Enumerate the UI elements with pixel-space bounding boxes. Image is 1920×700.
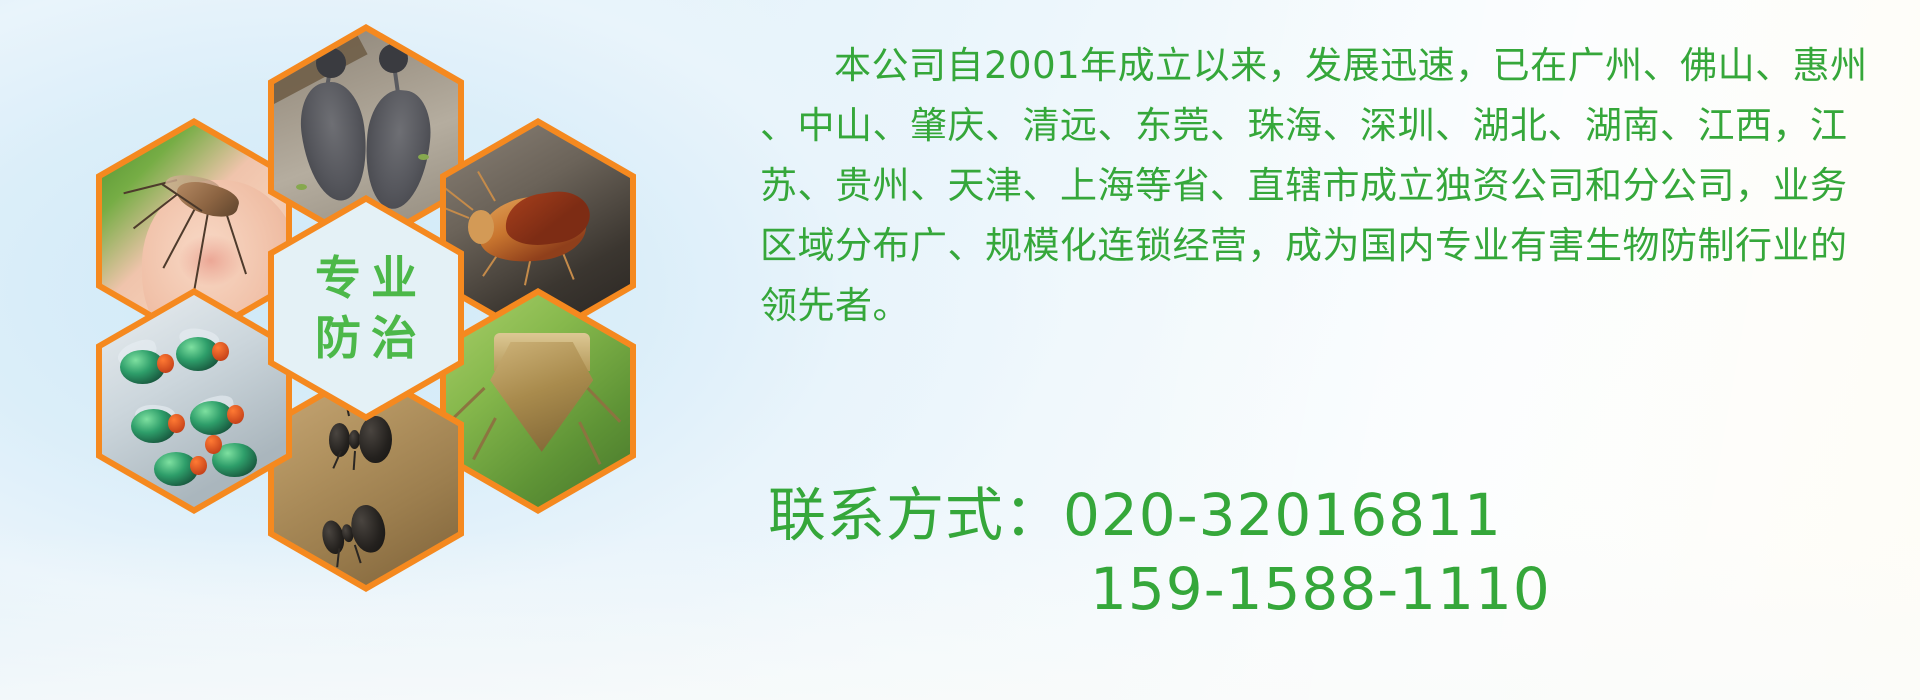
flies-photo xyxy=(102,295,286,507)
contact-phone-primary[interactable]: 联系方式：020-32016811 xyxy=(768,478,1888,552)
contact-block: 联系方式：020-32016811 159-1588-1110 xyxy=(768,478,1888,626)
hex-cell-flies[interactable] xyxy=(96,288,292,514)
hexagon-photo-cluster: 专业 防治 xyxy=(96,8,596,578)
hex-cell-slogan: 专业 防治 xyxy=(268,195,464,421)
promo-banner: 专业 防治 本公司自2001年成立以来，发展迅速，已在广州、佛山、惠州 、中山、… xyxy=(0,0,1920,700)
hex-cell-stinkbug[interactable] xyxy=(440,288,636,514)
description-line-1: 本公司自2001年成立以来，发展迅速，已在广州、佛山、惠州 xyxy=(760,36,1880,96)
description-line-4: 区域分布广、规模化连锁经营，成为国内专业有害生物防制行业的 xyxy=(760,216,1880,276)
description-line-2: 、中山、肇庆、清远、东莞、珠海、深圳、湖北、湖南、江西，江 xyxy=(760,96,1880,156)
hex-inner-flies xyxy=(102,295,286,507)
contact-phone-mobile[interactable]: 159-1588-1110 xyxy=(768,552,1888,626)
description-paragraph: 本公司自2001年成立以来，发展迅速，已在广州、佛山、惠州 、中山、肇庆、清远、… xyxy=(760,36,1880,336)
description-line-3: 苏、贵州、天津、上海等省、直辖市成立独资公司和分公司，业务 xyxy=(760,156,1880,216)
slogan-line-2: 防治 xyxy=(305,315,427,361)
company-description: 本公司自2001年成立以来，发展迅速，已在广州、佛山、惠州 、中山、肇庆、清远、… xyxy=(760,36,1880,336)
stinkbug-photo xyxy=(446,295,630,507)
description-line-5: 领先者。 xyxy=(760,276,1880,336)
hex-inner-slogan: 专业 防治 xyxy=(274,202,458,414)
hex-inner-stinkbug xyxy=(446,295,630,507)
slogan-line-1: 专业 xyxy=(305,255,427,301)
